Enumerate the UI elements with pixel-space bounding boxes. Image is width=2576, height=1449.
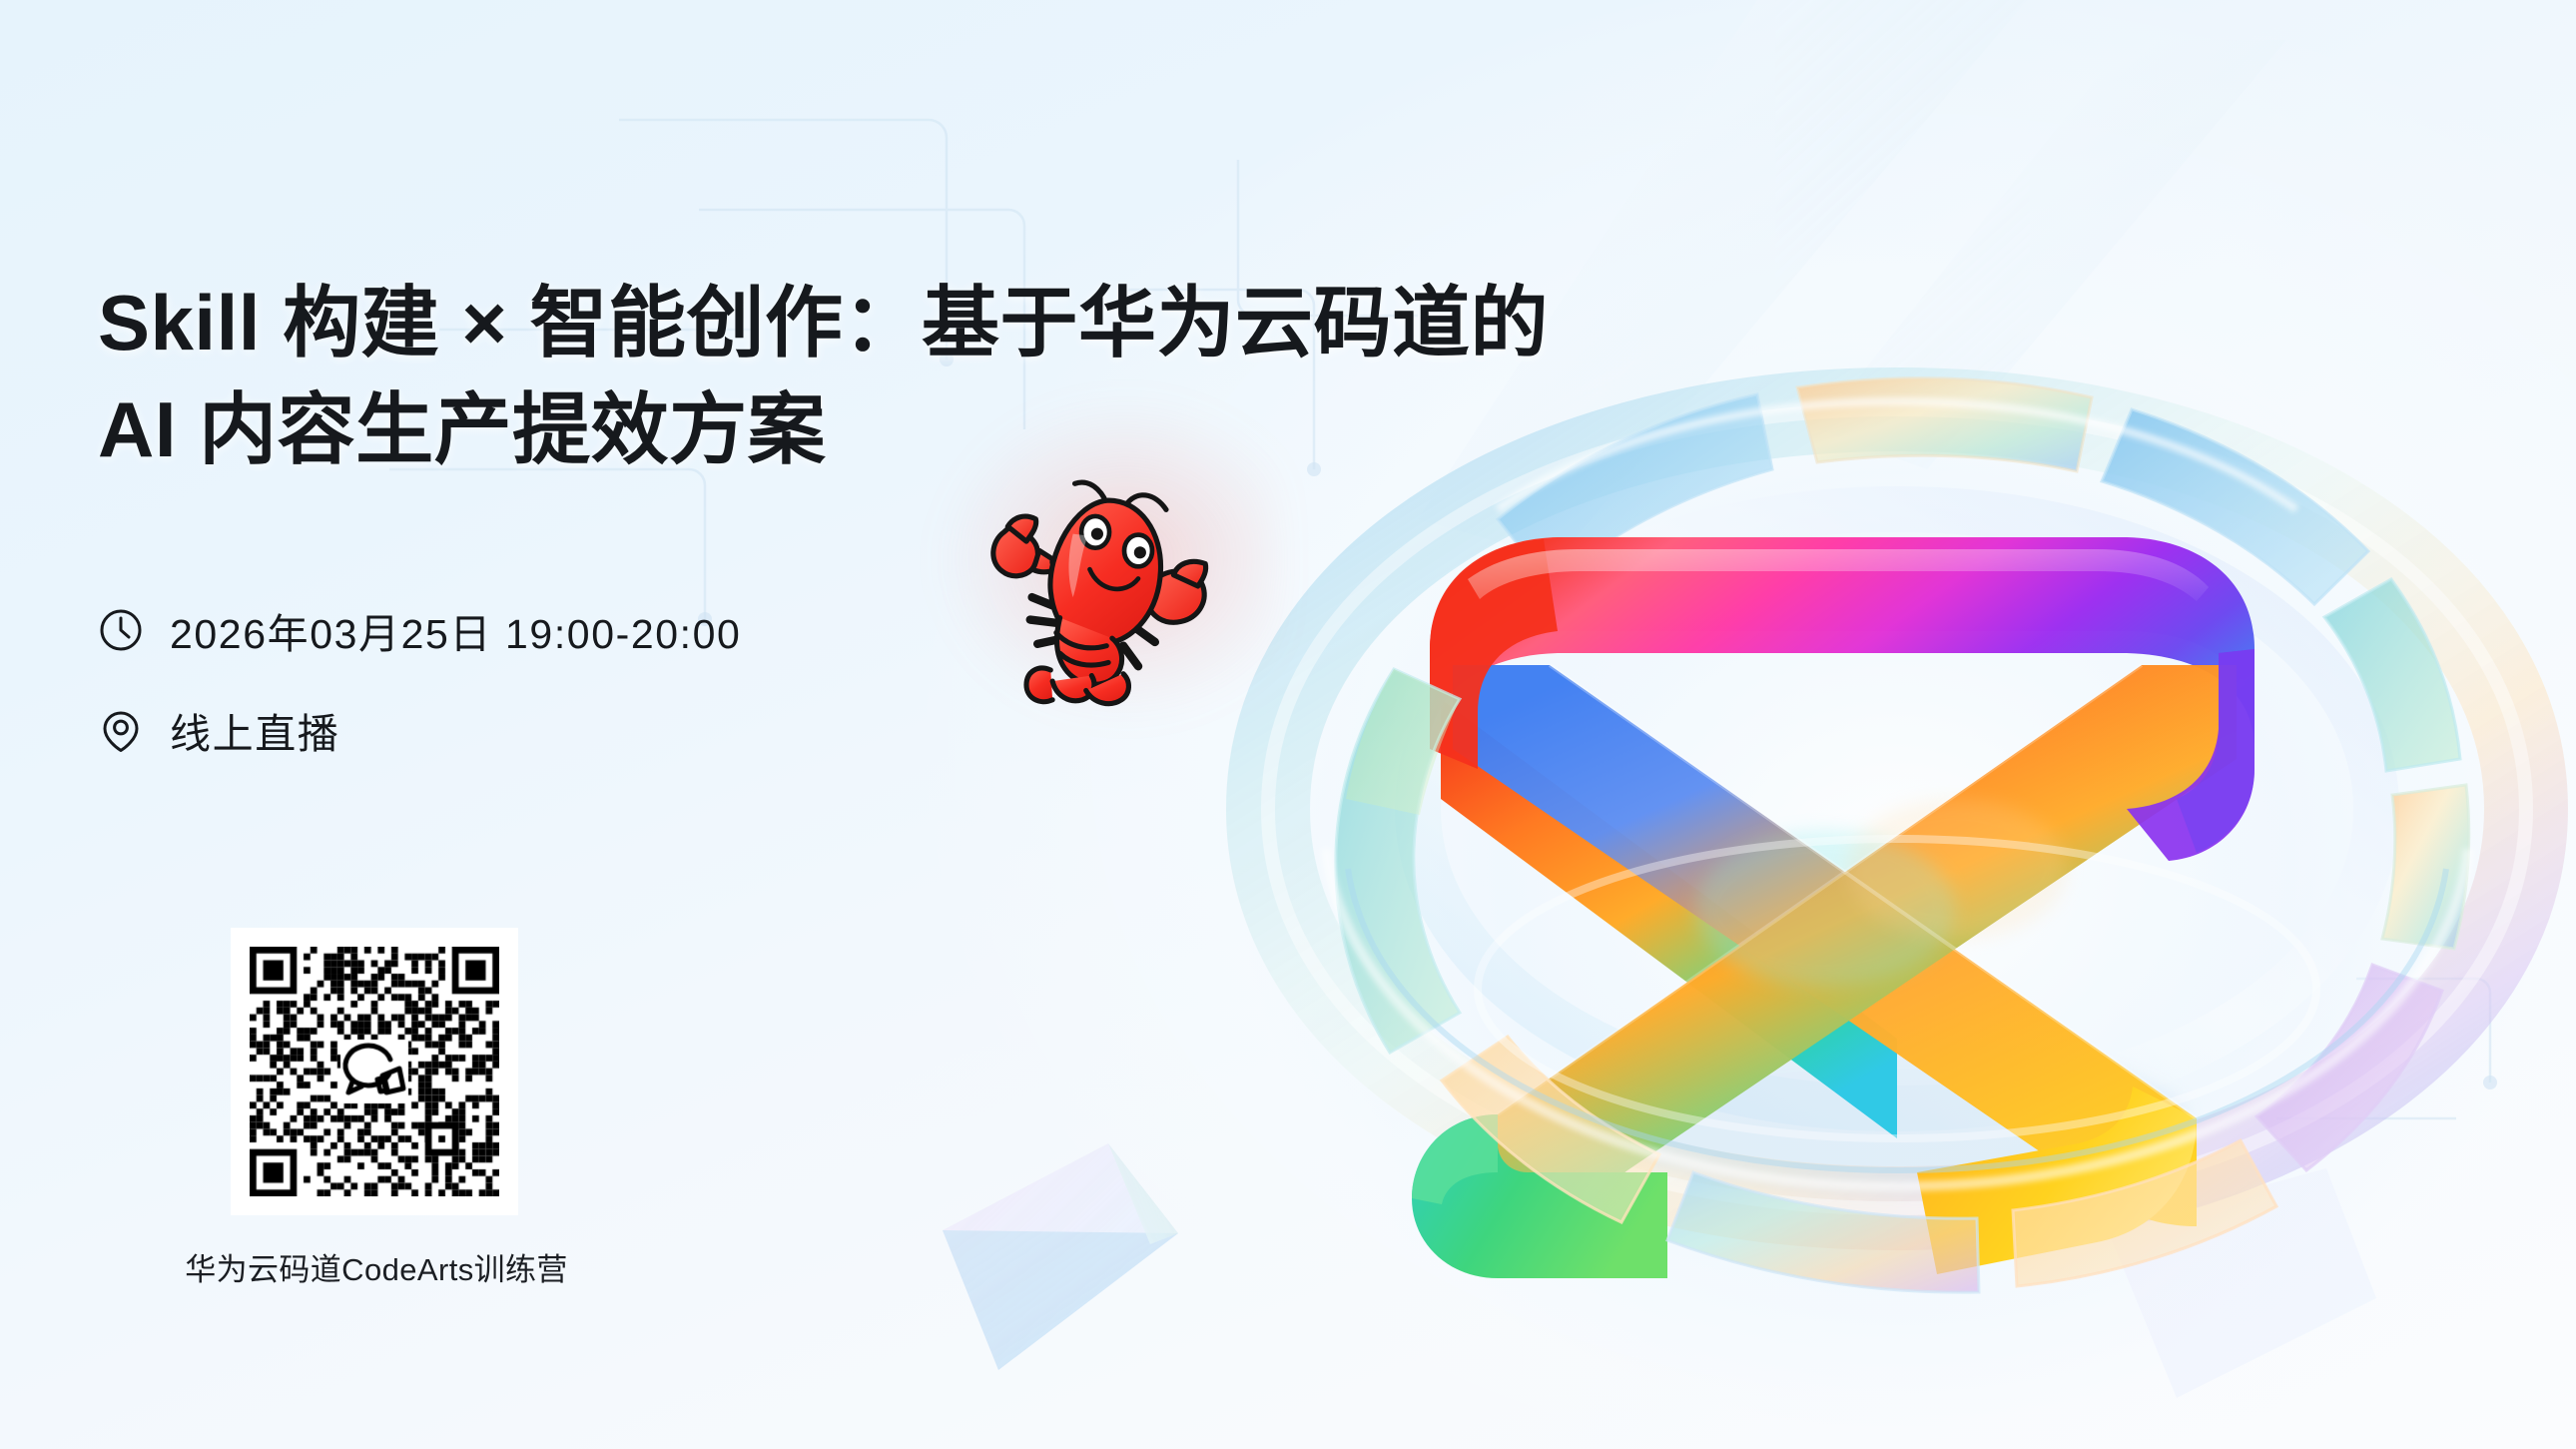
event-poster: Skill 构建 × 智能创作：基于华为云码道的 AI 内容生产提效方案 202… — [0, 0, 2576, 1449]
page-title-line-1: Skill 构建 × 智能创作：基于华为云码道的 — [98, 268, 1276, 378]
qr-code-block: 华为云码道CodeArts训练营 — [232, 929, 611, 1289]
qr-code-card[interactable] — [232, 929, 517, 1214]
qr-code-image[interactable] — [250, 947, 499, 1196]
clock-icon — [98, 607, 144, 653]
event-location-text: 线上直播 — [170, 700, 339, 760]
qr-code-caption: 华为云码道CodeArts训练营 — [142, 1244, 611, 1289]
lobster-illustration — [970, 431, 1250, 711]
event-datetime-text: 2026年03月25日 19:00-20:00 — [170, 600, 741, 660]
location-pin-icon — [98, 707, 144, 753]
